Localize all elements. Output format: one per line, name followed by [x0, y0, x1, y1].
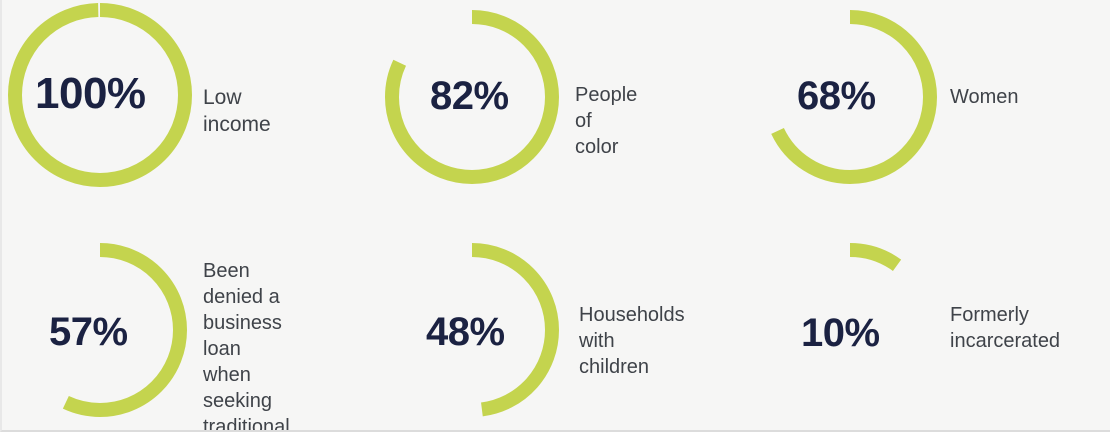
stat-value-low-income: 100%: [35, 72, 146, 116]
stat-value-households: 48%: [426, 312, 505, 352]
stat-label-households: Households with children: [579, 302, 685, 380]
stat-value-formerly-incarcerated: 10%: [801, 313, 880, 353]
stat-label-people-of-color: People of color: [575, 82, 637, 160]
stats-infographic: 100% Low income 82% People of color 68% …: [0, 0, 1110, 432]
stat-label-denied-loan: Been denied a business loan when seeking…: [203, 258, 290, 432]
stat-value-people-of-color: 82%: [430, 76, 509, 116]
stat-value-denied-loan: 57%: [49, 312, 128, 352]
stat-label-formerly-incarcerated: Formerly incarcerated: [950, 302, 1060, 354]
stat-value-women: 68%: [797, 76, 876, 116]
stat-label-low-income: Low income: [203, 84, 271, 139]
stat-label-women: Women: [950, 84, 1019, 110]
